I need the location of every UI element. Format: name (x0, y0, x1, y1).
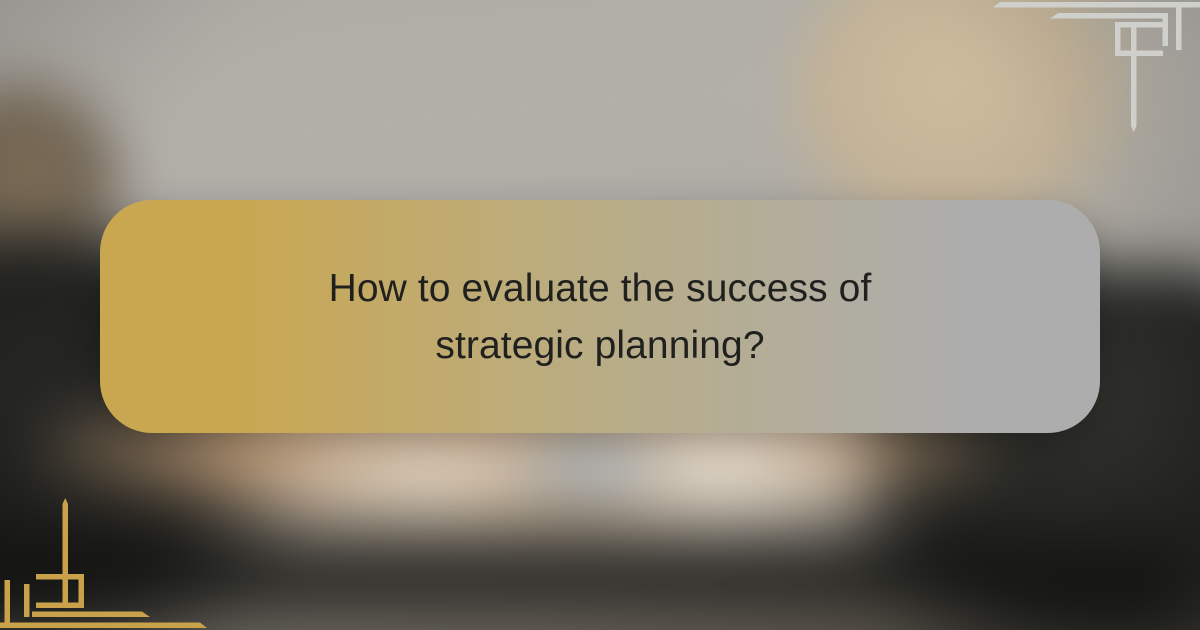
question-title: How to evaluate the success of strategic… (250, 260, 950, 374)
slide-canvas: How to evaluate the success of strategic… (0, 0, 1200, 630)
corner-ornament-top-right-icon (990, 0, 1200, 150)
question-card: How to evaluate the success of strategic… (100, 200, 1100, 433)
corner-ornament-bottom-left-icon (0, 480, 210, 630)
